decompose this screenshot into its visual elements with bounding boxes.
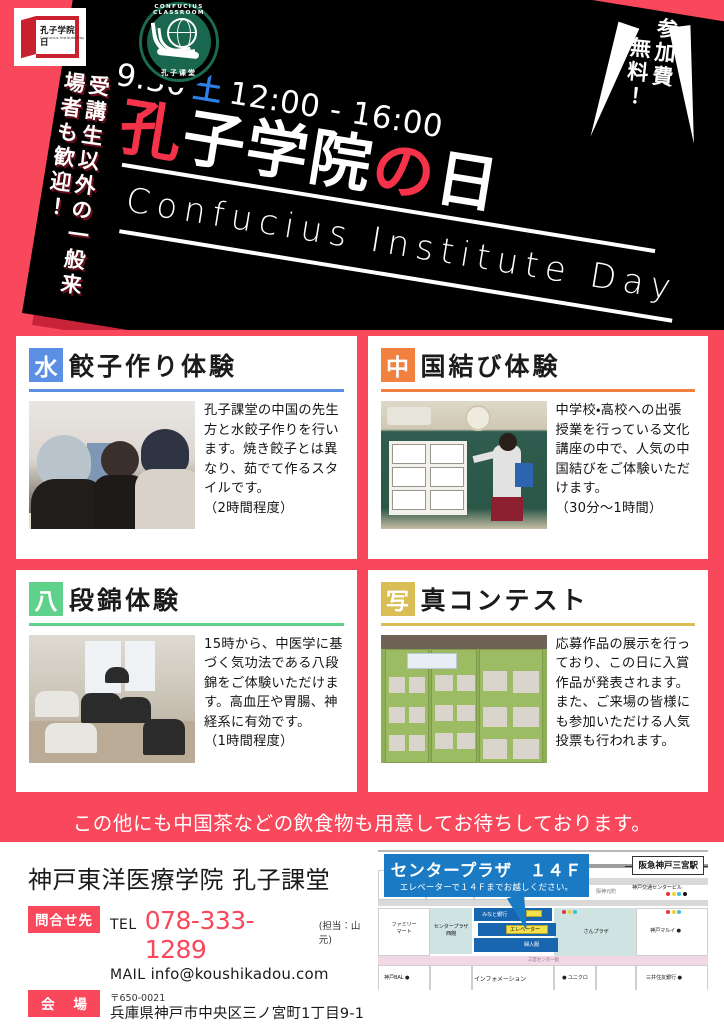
refreshments-text: この他にも中国茶などの飲食物も用意してお待ちしております。 [73,807,652,836]
card-description-text: 15時から、中医学に基づく気功法である八段錦をご体験いただけます。高血圧や胃腸、… [204,637,343,730]
signal-dot-red [666,910,670,914]
photo-item17 [483,739,507,759]
card-header: 中 国結び体験 [381,347,696,383]
card-header-rule [29,623,344,626]
callout-title: センタープラザ １４Ｆ [384,857,589,881]
photo-item12 [513,707,539,727]
photo-card1 [392,444,426,464]
map-label-kotsu-center: 神戸交通センタービル [632,884,682,891]
card-header: 写 真コンテスト [381,581,696,617]
map-label-information: インフォメーション [474,974,526,983]
photo-item6 [513,671,539,693]
map-signal-dots [666,910,681,914]
photo-person-e [143,719,185,755]
photo-person-a [35,691,79,717]
card-header-rule [29,389,344,392]
card-description: 応募作品の展示を行っており、この日に入賞作品が発表されます。また、ご来場の皆様に… [556,635,696,782]
event-title-part1: 孔 [114,89,189,171]
photo-ceiling-shape [381,635,547,649]
photo-person-d [117,697,151,723]
card-title: 餃子作り体験 [69,347,237,383]
map-label-familymart: ファミリーマート [382,922,426,935]
photo-item11 [483,707,507,727]
map-label-santa-center-gai: 三宮センター街 [528,957,559,963]
activity-card-gyoza[interactable]: 水 餃子作り体験 孔子課堂の中国の先生方と水餃子作りを行います。焼き餃子とは異な… [16,336,357,559]
map-block [596,965,636,990]
event-title-part4: 日 [430,141,505,223]
card-badge-icon: 中 [381,348,415,382]
card-description: 中学校・高校への出張授業を行っている文化講座の中で、人気の中国結びをご体験いただ… [556,401,696,548]
photo-card3 [392,467,426,487]
photo-person-b [81,693,121,723]
activity-card-photo-contest[interactable]: 写 真コンテスト [368,570,709,793]
map-station-label: 阪急神戸三宮駅 [632,856,704,875]
map-label-kobe-bal: 神戸BAL ● [384,974,409,981]
signal-dot-yellow [568,910,572,914]
tel-label: TEL [110,917,137,933]
footer-contact-column: 神戸東洋医療学院 孔子課堂 問合せ先 TEL 078-333-1289 (担当：… [0,842,372,1024]
footer-section: 神戸東洋医療学院 孔子課堂 問合せ先 TEL 078-333-1289 (担当：… [0,842,724,1024]
card-description-text: 孔子課堂の中国の先生方と水餃子作りを行います。焼き餃子とは異なり、茹でて作るスタ… [204,403,339,496]
signal-dot-yellow [672,910,676,914]
seal-top-text: CONFUCIUS CLASSROOM [133,4,225,16]
card-header: 八 段錦体験 [29,581,344,617]
signal-dot-red [562,910,566,914]
map-label-fujin: 婦人服 [524,941,539,948]
station-bar-right [704,866,708,867]
map-callout: センタープラザ １４Ｆ エレベーターで１４Ｆまでお越しください。 [384,854,589,897]
photo-item8 [409,707,425,723]
venue-map[interactable]: ファミリーマート センタープラザ西館 みなと銀行 エレベーター 婦人服 インフォ… [378,850,708,990]
footer-map-column: ファミリーマート センタープラザ西館 みなと銀行 エレベーター 婦人服 インフォ… [372,842,724,1024]
tel-attention: (担当：山元) [319,918,372,946]
contact-tag: 問合せ先 [28,906,100,933]
photo-item14 [409,735,425,751]
card-description: 15時から、中医学に基づく気功法である八段錦をご体験いただけます。高血圧や胃腸、… [204,635,344,782]
photo-item7 [389,707,405,723]
photo-item5 [483,671,507,691]
card-title: 国結び体験 [421,347,561,383]
card-photo [29,401,195,529]
photo-book-shape [515,463,533,487]
mail-label: MAIL [110,967,146,983]
venue-details: 〒650-0021 兵庫県神戸市中央区三ノ宮町1丁目9-1 センタープラザ14階… [110,990,372,1024]
map-fujin-bar [474,938,558,952]
activity-card-chinese-knot[interactable]: 中 国結び体験 [368,336,709,559]
map-label-sanplaza: さんプラザ [568,928,624,935]
photo-banner [407,653,457,669]
card-duration: （1時間程度） [204,732,344,752]
event-title-part3: の [367,130,442,212]
mail-line: MAIL info@koushikadou.com [110,965,372,983]
photo-window2 [125,641,155,691]
card-body: 15時から、中医学に基づく気功法である八段錦をご体験いただけます。高血圧や胃腸、… [29,635,344,782]
card-header: 水 餃子作り体験 [29,347,344,383]
card-header-rule [381,623,696,626]
photo-teacher-head [499,433,517,451]
postal-code: 〒650-0021 [110,990,372,1004]
card-duration: （30分〜1時間） [556,499,696,519]
hero-section: 孔子学院日 Confucius Institute Day CONFUCIUS … [0,0,724,330]
card-description-text: 応募作品の展示を行っており、この日に入賞作品が発表されます。また、ご来場の皆様に… [556,637,691,750]
map-signal-dots [666,892,687,896]
map-label-center-plaza-west: センタープラザ西館 [428,924,474,937]
photo-item16 [457,733,475,749]
photo-person-f [105,667,129,683]
photo-card5 [392,490,426,510]
photo-projector-shape [387,407,431,425]
callout-subtitle: エレベーターで１４Ｆまでお越しください。 [384,881,589,893]
signal-dot-cyan [677,892,681,896]
map-label-hanshin-motomachi: 阪神元町 [596,888,616,895]
photo-card4 [430,467,464,487]
venue-tag: 会 場 [28,990,100,1017]
photo-item1 [389,677,405,693]
signal-dot-red [666,892,670,896]
tel-number[interactable]: 078-333-1289 [145,906,311,964]
photo-person3-head [101,441,139,479]
poster: 孔子学院日 Confucius Institute Day CONFUCIUS … [0,0,724,1024]
photo-board-shape [389,441,467,515]
map-label-minato-bank: みなと銀行 [482,911,507,918]
telephone-line: TEL 078-333-1289 (担当：山元) [110,906,372,964]
signal-dot-black [683,892,687,896]
card-badge-icon: 八 [29,582,63,616]
photo-item9 [435,705,453,721]
station-name: 阪急神戸三宮駅 [638,861,698,871]
card-title: 真コンテスト [421,581,589,617]
free-admission-block: 無料！ 参加費 [592,11,704,149]
photo-item3 [435,675,453,691]
photo-card6 [430,490,464,510]
photo-item10 [457,705,475,721]
contact-rows: 問合せ先 TEL 078-333-1289 (担当：山元) MAIL info@… [28,906,372,1024]
map-label-uniqlo: ● ユニクロ [562,974,588,981]
card-body: 中学校・高校への出張授業を行っている文化講座の中で、人気の中国結びをご体験いただ… [381,401,696,548]
door-panel-shape [21,16,37,59]
photo-card2 [430,444,464,464]
map-label-mitsui-sumitomo: 三井住友銀行 ● [646,974,682,981]
photo-person-c [45,723,97,753]
card-badge-icon: 写 [381,582,415,616]
address-line-1: 兵庫県神戸市中央区三ノ宮町1丁目9-1 [110,1005,372,1024]
station-bar-left [625,866,632,867]
map-block [430,965,472,990]
door-icon: 孔子学院日 Confucius Institute Day [21,16,79,58]
refreshments-banner: この他にも中国茶などの飲食物も用意してお待ちしております。 [0,800,724,842]
map-road-horizontal [378,900,708,906]
photo-item2 [409,677,425,693]
photo-teacher-skirt [491,497,523,521]
contact-row: 問合せ先 TEL 078-333-1289 (担当：山元) MAIL info@… [28,906,372,983]
card-description: 孔子課堂の中国の先生方と水餃子作りを行います。焼き餃子とは異なり、茹でて作るスタ… [204,401,344,548]
photo-person2-body [135,469,195,529]
card-title: 段錦体験 [69,581,181,617]
photo-item4 [457,675,475,691]
seal-bottom-text: 孔子课堂 [133,68,225,78]
photo-item18 [513,739,539,759]
card-photo [29,635,195,763]
card-photo [381,401,547,529]
signal-dot-yellow [672,892,676,896]
signal-dot-cyan [677,910,681,914]
photo-clock-shape [465,405,491,431]
map-label-kobe-marui: 神戸マルイ ● [650,927,681,934]
card-body: 応募作品の展示を行っており、この日に入賞作品が発表されます。また、ご来場の皆様に… [381,635,696,782]
activity-card-baduanjin[interactable]: 八 段錦体験 15時から、中医学に基づく気功法である八段錦をご体験いた [16,570,357,793]
activity-cards-grid: 水 餃子作り体験 孔子課堂の中国の先生方と水餃子作りを行います。焼き餃子とは異な… [0,330,724,800]
photo-item13 [389,735,405,751]
card-photo [381,635,547,763]
card-badge-icon: 水 [29,348,63,382]
card-body: 孔子課堂の中国の先生方と水餃子作りを行います。焼き餃子とは異なり、茹でて作るスタ… [29,401,344,548]
contact-details: TEL 078-333-1289 (担当：山元) MAIL info@koush… [110,906,372,983]
map-signal-dots [562,910,577,914]
logo-en-text: Confucius Institute Day [40,36,84,40]
card-header-rule [381,389,696,392]
organization-name: 神戸東洋医療学院 孔子課堂 [28,860,372,895]
confucius-classroom-seal-icon: CONFUCIUS CLASSROOM 孔子课堂 [133,0,225,88]
confucius-institute-day-logo: 孔子学院日 Confucius Institute Day [14,8,86,66]
card-duration: （2時間程度） [204,499,344,519]
signal-dot-cyan [573,910,577,914]
mail-address[interactable]: info@koushikadou.com [151,965,329,983]
venue-row: 会 場 〒650-0021 兵庫県神戸市中央区三ノ宮町1丁目9-1 センタープラ… [28,990,372,1024]
card-description-text: 中学校・高校への出張授業を行っている文化講座の中で、人気の中国結びをご体験いただ… [556,403,691,496]
photo-item15 [435,733,453,749]
